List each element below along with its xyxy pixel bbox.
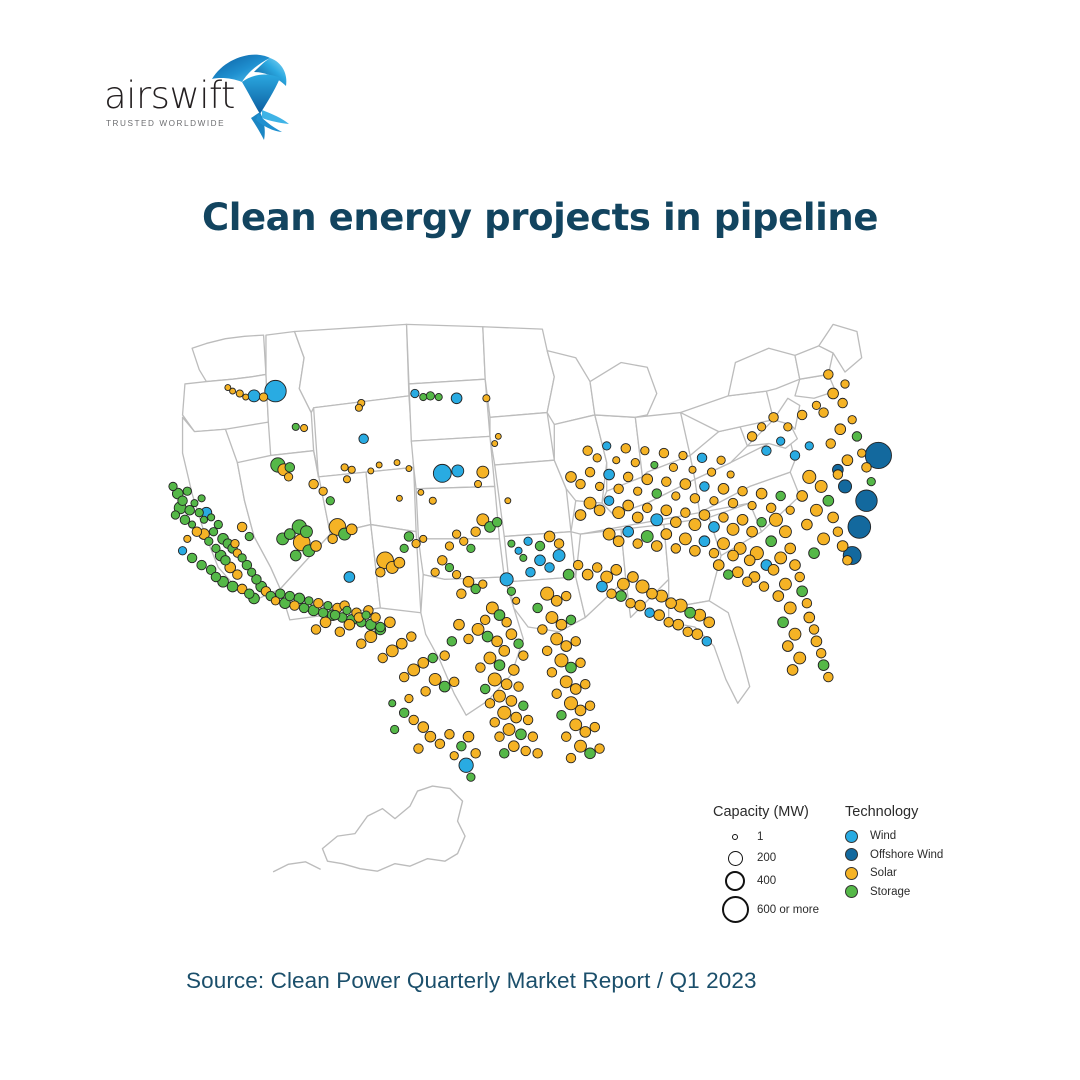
project-bubble [485,699,495,709]
project-bubble [773,591,784,602]
project-bubble [585,467,595,477]
project-bubble [593,454,601,462]
project-bubble [452,570,460,578]
project-bubble [447,637,457,647]
project-bubble [651,541,662,552]
project-bubble [433,464,451,482]
project-bubble [709,522,720,533]
project-bubble [480,684,490,694]
project-bubble [326,497,334,505]
project-bubble [524,537,532,545]
project-bubble [197,560,207,570]
project-bubble [762,446,772,456]
project-bubble [284,529,295,540]
project-bubble [516,729,527,740]
project-bubble [757,423,765,431]
project-bubble [824,672,834,682]
project-bubble [457,741,467,751]
project-bubble [580,727,591,738]
project-bubble [723,570,733,580]
project-bubble [732,567,743,578]
project-bubble [661,529,672,540]
project-bubble [661,505,672,516]
project-bubble [690,545,701,556]
project-bubble [662,477,672,487]
project-bubble [394,557,405,568]
project-bubble [816,648,826,658]
project-bubble [265,380,286,401]
project-bubble [748,501,756,509]
capacity-label: 1 [757,831,763,843]
project-bubble [719,513,729,523]
project-bubble [570,684,581,695]
project-bubble [835,424,846,435]
project-bubble [679,533,691,545]
project-bubble [790,451,800,461]
project-bubble [533,603,543,613]
project-bubble [566,615,576,625]
legend-technology-item[interactable]: Solar [845,864,1005,883]
legend-technology-item[interactable]: Wind [845,827,1005,846]
project-bubble [833,527,843,537]
project-bubble [803,470,816,483]
airswift-logo: airswift TRUSTED WORLDWIDE [104,55,284,147]
legend-technology-title: Technology [845,804,1005,820]
capacity-circle [722,896,749,923]
project-bubble [651,514,663,526]
project-bubble [314,598,324,608]
project-bubble [523,715,533,725]
project-bubble [238,554,246,562]
project-bubble [702,637,712,647]
project-bubble [341,464,348,471]
project-bubble [823,495,834,506]
project-bubble [208,514,215,521]
capacity-circle [725,871,745,891]
project-bubble [790,560,801,571]
project-bubble [445,729,455,739]
project-bubble [187,553,197,563]
project-bubble [420,535,427,542]
project-bubble [292,423,299,430]
page-title: Clean energy projects in pipeline [0,196,1080,239]
project-bubble [526,567,536,577]
project-bubble [592,563,602,573]
project-bubble [365,631,377,643]
technology-color-swatch [845,867,858,880]
project-bubble [647,588,658,599]
project-bubble [544,531,555,542]
project-bubble [651,461,658,468]
project-bubble [429,497,436,504]
project-bubble [603,528,615,540]
project-bubble [654,610,665,621]
project-bubble [500,573,513,586]
project-bubble [728,498,738,508]
project-bubble [438,556,448,566]
project-bubble [707,468,715,476]
project-bubble [431,568,439,576]
project-bubble [718,483,729,494]
project-bubble [673,619,684,630]
technology-color-swatch [845,848,858,861]
project-bubble [838,480,851,493]
project-bubble [747,526,758,537]
project-bubble [575,705,586,716]
project-bubble [508,540,515,547]
project-bubble [355,404,362,411]
project-bubble [205,537,213,545]
project-bubble [472,623,484,635]
project-bubble [585,748,596,759]
project-bubble [628,572,639,583]
project-bubble [804,612,815,623]
swift-bird-icon [208,52,290,142]
project-bubble [786,506,794,514]
project-bubble [503,724,515,736]
project-bubble [439,681,450,692]
project-bubble [666,598,677,609]
project-bubble [611,564,622,575]
project-bubble [192,527,202,537]
project-bubble [858,449,866,457]
project-bubble [551,633,563,645]
project-bubble [585,701,595,711]
project-bubble [236,390,243,397]
project-bubble [284,473,292,481]
project-bubble [704,617,715,628]
project-bubble [797,586,808,597]
project-bubble [818,660,829,671]
project-bubble [396,638,407,649]
technology-label: Solar [870,867,897,879]
project-bubble [570,719,582,731]
project-bubble [603,442,611,450]
project-bubble [521,746,531,756]
project-bubble [426,392,434,400]
project-bubble [221,556,231,566]
project-bubble [613,536,624,547]
technology-label: Wind [870,830,896,842]
capacity-circle [732,834,738,840]
project-bubble [802,519,813,530]
project-bubble [506,696,517,707]
project-bubble [538,625,548,635]
project-bubble [271,597,279,605]
project-bubble [556,619,567,630]
project-bubble [710,497,718,505]
project-bubble [828,512,839,523]
project-bubble [782,641,793,652]
project-bubble [390,725,398,733]
project-bubble [812,401,820,409]
project-bubble [595,744,605,754]
project-bubble [623,526,634,537]
project-bubble [467,773,475,781]
project-bubble [828,388,839,399]
project-bubble [766,503,776,513]
project-bubble [519,651,529,661]
project-bubble [689,466,696,473]
technology-color-swatch [845,885,858,898]
project-bubble [768,564,779,575]
project-bubble [553,550,565,562]
project-bubble [400,544,408,552]
project-bubble [385,617,396,628]
project-bubble [418,722,429,733]
capacity-circle-symbol [713,896,757,923]
project-bubble [837,541,848,552]
project-bubble [477,466,489,478]
project-bubble [169,482,177,490]
project-bubble [471,527,481,537]
technology-label: Offshore Wind [870,849,943,861]
project-bubble [759,582,769,592]
project-bubble [819,408,829,418]
project-bubble [557,710,567,720]
project-bubble [498,706,511,719]
project-bubble [699,536,710,547]
project-bubble [335,627,345,637]
project-bubble [405,694,413,702]
project-bubble [227,581,238,592]
capacity-circle-symbol [713,834,757,840]
project-bubble [613,457,620,464]
project-bubble [305,597,313,605]
project-bubble [546,612,558,624]
project-bubble [414,744,424,754]
project-bubble [787,665,798,676]
project-bubble [200,516,207,523]
project-bubble [346,524,357,535]
project-bubble [713,560,724,571]
project-bubble [680,479,691,490]
project-bubble [717,456,725,464]
project-bubble [171,511,179,519]
project-bubble [738,486,748,496]
project-bubble [551,595,562,606]
capacity-label: 600 or more [757,904,819,916]
project-bubble [492,636,503,647]
project-bubble [679,451,687,459]
project-bubble [508,665,519,676]
project-bubble [245,532,253,540]
project-bubble [464,634,474,644]
project-bubble [563,569,574,580]
project-bubble [779,578,791,590]
project-bubble [404,532,414,542]
project-bubble [635,600,646,611]
project-bubble [231,539,239,547]
project-bubble [584,497,596,509]
project-bubble [428,653,438,663]
project-bubble [459,758,473,772]
project-bubble [681,508,691,518]
project-bubble [634,487,642,495]
project-bubble [451,393,462,404]
project-bubble [776,491,786,501]
project-bubble [535,541,545,551]
infographic-page: airswift TRUSTED WORLDWIDE [0,0,1080,1080]
project-bubble [495,732,505,742]
project-bubble [183,487,191,495]
project-bubble [769,413,779,423]
project-bubble [492,441,498,447]
project-bubble [368,468,374,474]
project-bubble [212,544,220,552]
project-bubble [378,653,388,663]
project-bubble [467,544,475,552]
project-bubble [452,530,460,538]
project-bubble [515,547,522,554]
project-bubble [843,556,853,566]
project-bubble [421,687,431,697]
project-bubble [519,701,529,711]
project-bubble [479,580,487,588]
project-bubble [408,664,420,676]
project-bubble [507,587,515,595]
project-bubble [575,740,587,752]
legend-technology-item[interactable]: Storage [845,883,1005,902]
project-bubble [671,544,681,554]
project-bubble [301,526,313,538]
project-bubble [418,489,424,495]
project-bubble [566,662,577,673]
capacity-circle-symbol [713,871,757,891]
project-bubble [499,645,510,656]
project-bubble [178,547,186,555]
project-bubble [225,385,231,391]
project-bubble [452,465,464,477]
project-bubble [811,636,822,647]
project-bubble [505,498,511,504]
legend-technology: Technology WindOffshore WindSolarStorage [845,804,1005,901]
project-bubble [214,520,222,528]
capacity-label: 200 [757,852,776,864]
project-bubble [797,491,808,502]
legend-technology-item[interactable]: Offshore Wind [845,846,1005,865]
project-bubble [626,598,636,608]
project-bubble [471,749,481,759]
project-bubble [435,393,442,400]
project-bubble [506,629,517,640]
project-bubble [616,591,627,602]
project-bubble [484,652,496,664]
project-bubble [575,510,586,521]
project-bubble [642,503,652,513]
project-bubble [450,752,458,760]
project-bubble [508,741,519,752]
project-bubble [185,505,195,515]
project-bubble [501,679,512,690]
project-bubble [309,479,319,489]
project-bubble [815,480,827,492]
project-bubble [766,536,777,547]
project-bubble [756,488,767,499]
project-bubble [488,673,501,686]
legend-capacity-items: 1200400600 or more [713,827,843,925]
project-bubble [285,591,295,601]
project-bubble [641,447,649,455]
project-bubble [359,434,369,444]
project-bubble [769,513,782,526]
project-bubble [480,615,490,625]
project-bubble [376,622,386,632]
project-bubble [583,446,593,456]
project-bubble [833,470,843,480]
project-bubble [445,542,453,550]
project-bubble [248,390,260,402]
project-bubble [659,448,669,458]
project-bubble [357,639,367,649]
project-bubble [460,537,468,545]
project-bubble [571,637,581,647]
project-bubble [396,495,402,501]
project-bubble [376,462,382,468]
project-bubble [590,722,600,732]
project-bubble [709,548,719,558]
project-bubble [838,398,848,408]
project-bubble [320,617,331,628]
project-bubble [552,689,562,699]
project-bubble [412,539,420,547]
project-bubble [243,394,249,400]
project-bubble [797,410,807,420]
project-bubble [311,541,322,552]
project-bubble [641,531,653,543]
project-bubble [867,477,875,485]
project-bubble [689,519,701,531]
project-bubble [818,533,830,545]
project-bubble [809,548,820,559]
project-bubble [435,739,445,749]
project-bubble [852,432,862,442]
project-bubble [669,463,677,471]
project-bubble [561,641,572,652]
project-bubble [794,652,806,664]
project-bubble [561,732,571,742]
project-bubble [328,534,338,544]
project-bubble [409,715,419,725]
project-bubble [664,617,674,627]
project-bubble [824,370,834,380]
project-bubble [290,601,300,611]
project-bubble [495,433,501,439]
project-bubble [425,731,436,742]
project-bubble [247,568,255,576]
project-bubble [685,607,696,618]
project-bubble [418,657,429,668]
capacity-circle [728,851,743,866]
project-bubble [581,679,591,689]
project-bubble [535,555,546,566]
project-bubble [560,676,572,688]
source-caption: Source: Clean Power Quarterly Market Rep… [186,968,757,994]
project-bubble [348,466,355,473]
project-bubble [499,749,509,759]
project-bubble [514,682,524,692]
project-bubble [513,597,520,604]
project-bubble [290,550,301,561]
project-bubble [862,463,872,473]
project-bubble [631,458,639,466]
project-bubble [514,639,524,649]
project-bubble [777,437,785,445]
project-bubble [582,569,593,580]
legend-capacity: Capacity (MW) 1200400600 or more [713,804,843,926]
project-bubble [554,539,564,549]
project-bubble [784,423,792,431]
